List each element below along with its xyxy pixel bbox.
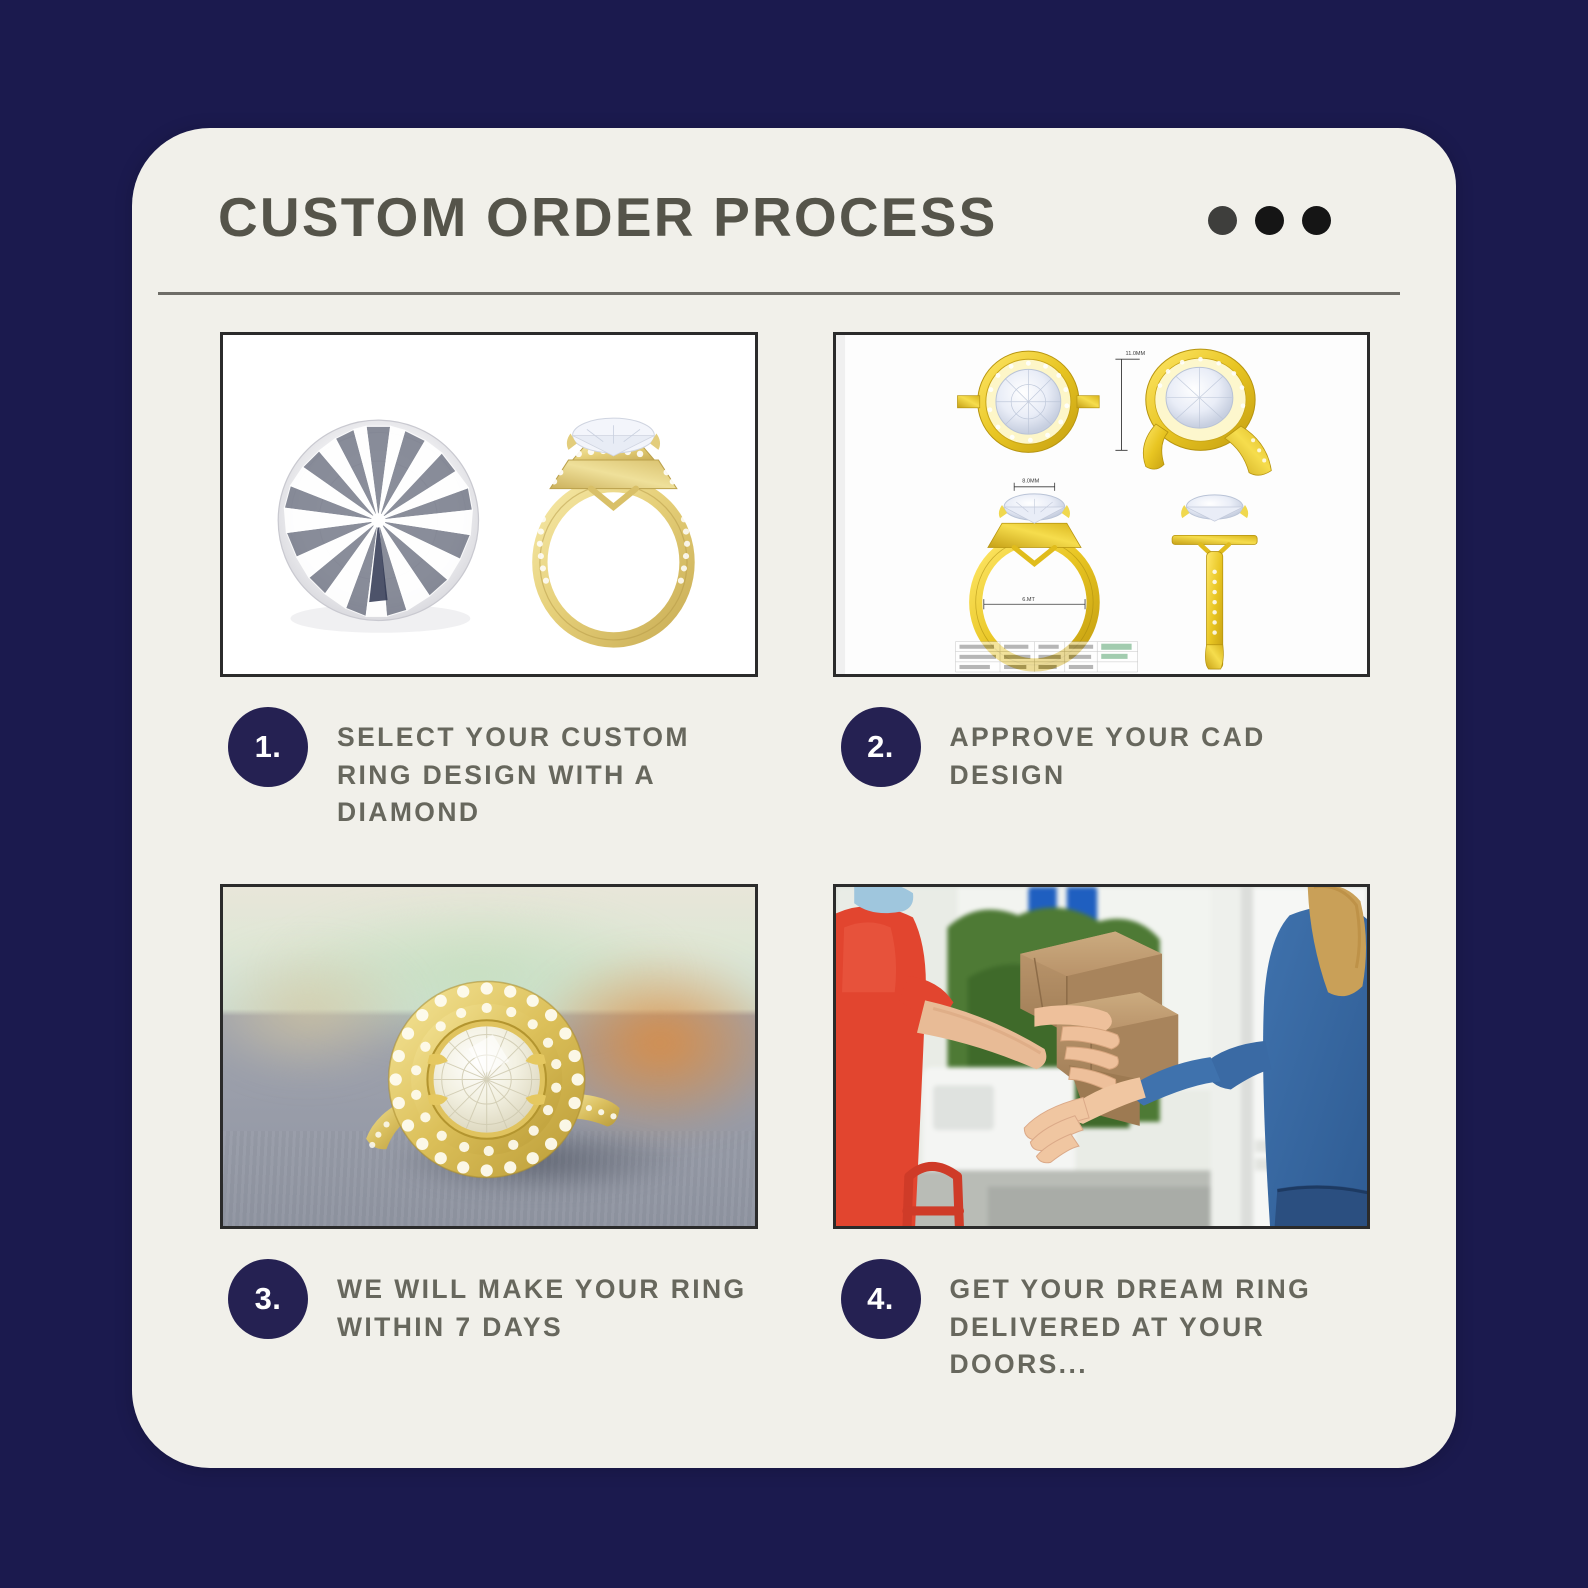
delivery-illustration (836, 887, 1368, 1226)
step-2-caption: APPROVE YOUR CAD DESIGN (950, 707, 1350, 794)
step-1-caption: SELECT YOUR CUSTOM RING DESIGN WITH A DI… (337, 707, 737, 832)
finished-ring-photo: Close-up photograph of the finished yell… (220, 884, 758, 1229)
window-dot-minimize-icon[interactable] (1208, 206, 1237, 235)
cad-drawing-illustration: 11.0MM (836, 335, 1368, 674)
step-card-4: Delivery courier in a red shirt handing … (833, 884, 1371, 1384)
courier-hands (1034, 1005, 1119, 1089)
header-divider (158, 292, 1400, 295)
step-2-number-badge: 2. (841, 707, 921, 787)
diamond-and-ring-photo: Loose round brilliant cut diamond beside… (220, 332, 758, 677)
step-4-number-badge: 4. (841, 1259, 921, 1339)
process-card: CUSTOM ORDER PROCESS Loose round brillia… (132, 128, 1456, 1468)
step-card-3: Close-up photograph of the finished yell… (220, 884, 758, 1384)
finished-ring-illustration (223, 887, 755, 1226)
step-2-caption-row: 2. APPROVE YOUR CAD DESIGN (833, 707, 1371, 794)
card-header: CUSTOM ORDER PROCESS (132, 128, 1456, 298)
step-1-caption-row: 1. SELECT YOUR CUSTOM RING DESIGN WITH A… (220, 707, 758, 832)
step-3-number-badge: 3. (228, 1259, 308, 1339)
svg-text:8.0MM: 8.0MM (1022, 479, 1039, 485)
step-4-caption-row: 4. GET YOUR DREAM RING DELIVERED AT YOUR… (833, 1259, 1371, 1384)
page-title: CUSTOM ORDER PROCESS (218, 190, 997, 245)
window-controls (1208, 206, 1331, 235)
step-4-caption: GET YOUR DREAM RING DELIVERED AT YOUR DO… (950, 1259, 1350, 1384)
svg-text:6.MT: 6.MT (1022, 597, 1035, 603)
step-card-2: CAD technical drawing of the halo engage… (833, 332, 1371, 832)
steps-grid: Loose round brilliant cut diamond beside… (132, 332, 1456, 1384)
window-dot-close-icon[interactable] (1302, 206, 1331, 235)
step-3-caption: WE WILL MAKE YOUR RING WITHIN 7 DAYS (337, 1259, 757, 1346)
svg-text:11.0MM: 11.0MM (1125, 351, 1145, 357)
diamond-and-ring-illustration (223, 335, 755, 674)
step-1-number-badge: 1. (228, 707, 308, 787)
delivery-handover-photo: Delivery courier in a red shirt handing … (833, 884, 1371, 1229)
ring-top-view-illustration (223, 887, 755, 1226)
cad-design-drawing: CAD technical drawing of the halo engage… (833, 332, 1371, 677)
window-dot-maximize-icon[interactable] (1255, 206, 1284, 235)
infographic-page: CUSTOM ORDER PROCESS Loose round brillia… (0, 0, 1588, 1588)
delivery-figures (836, 887, 1367, 1226)
step-3-caption-row: 3. WE WILL MAKE YOUR RING WITHIN 7 DAYS (220, 1259, 758, 1346)
step-card-1: Loose round brilliant cut diamond beside… (220, 332, 758, 832)
courier-figure (836, 887, 1046, 1226)
